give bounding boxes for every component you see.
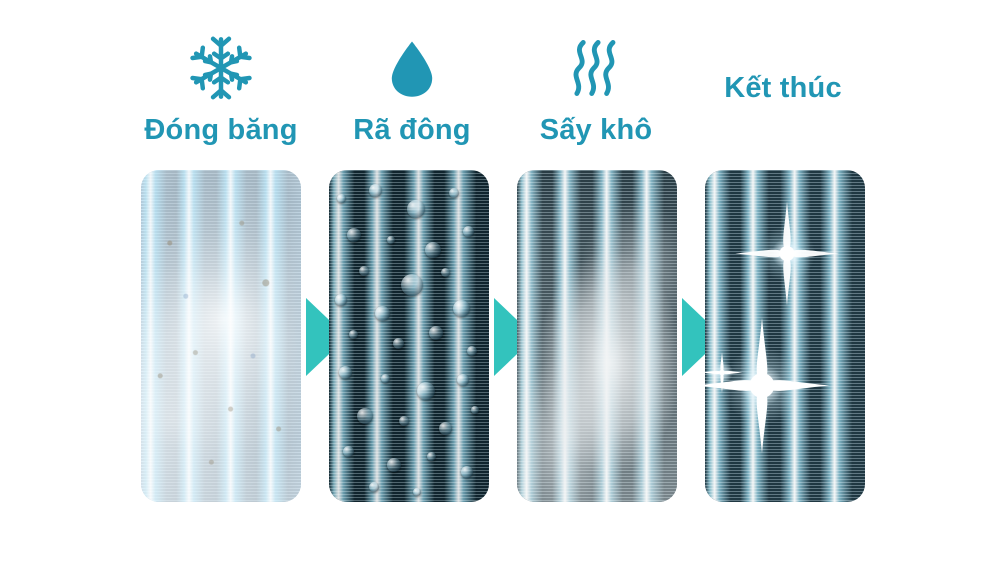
step-label-dry: Sấy khô	[476, 114, 716, 147]
step-header-finish: Kết thúc	[663, 72, 903, 105]
sparkle-icon	[733, 200, 841, 313]
sparkle-icon	[705, 350, 745, 401]
process-diagram: Đóng băng Rã đông Sấy khô Kết thúc	[0, 0, 1000, 564]
step-label-finish: Kết thúc	[663, 72, 903, 105]
steam-overlay	[517, 170, 677, 502]
frozen-coil-photo	[141, 170, 301, 502]
water-droplets-overlay	[329, 170, 489, 502]
drying-coil-photo	[517, 170, 677, 502]
clean-coil-photo	[705, 170, 865, 502]
thawing-coil-photo	[329, 170, 489, 502]
frost-specks-overlay	[141, 170, 301, 502]
